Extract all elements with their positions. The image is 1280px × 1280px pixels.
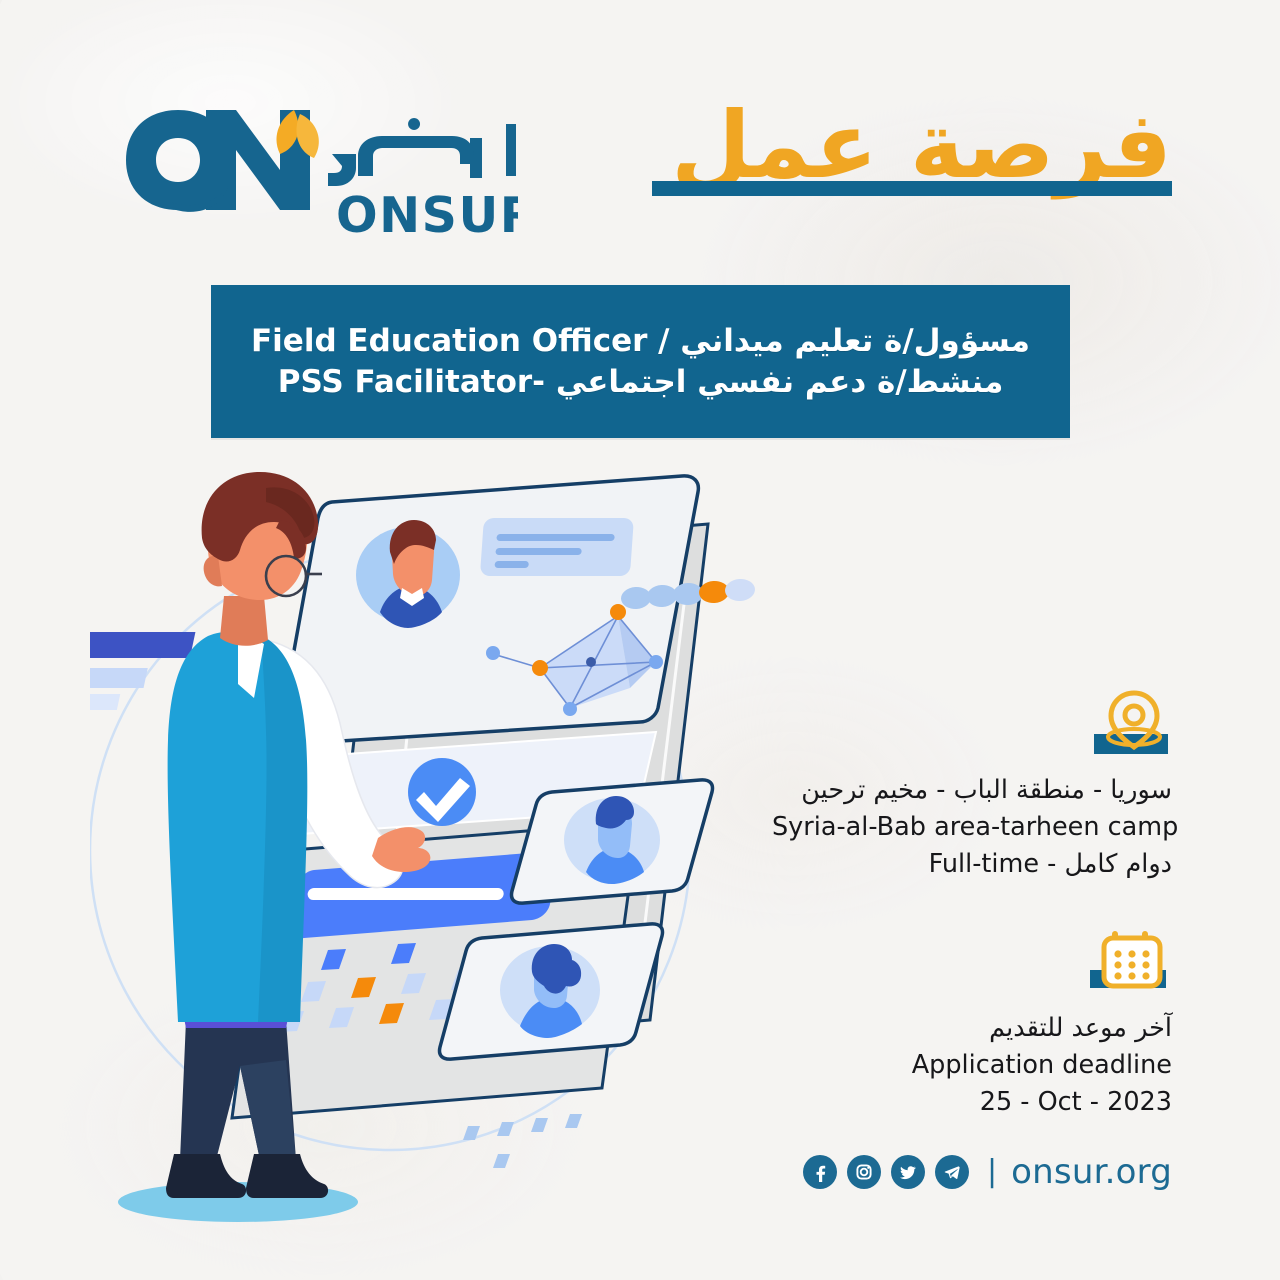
job-title-banner: مسؤول/ة تعليم ميداني / Field Education O… [211,285,1070,438]
avatar-card-2 [440,924,663,1059]
telegram-icon[interactable] [935,1155,969,1189]
instagram-icon[interactable] [847,1155,881,1189]
location-line-2: Syria-al-Bab area-tarheen camp [772,809,1172,846]
website-link[interactable]: onsur.org [1011,1152,1172,1192]
deadline-block: آخر موعد للتقديم Application deadline 25… [772,926,1172,1122]
decorative-dashes-bottom [463,1114,582,1168]
calendar-icon [772,926,1172,994]
job-title-line-2: منشط/ة دعم نفسي اجتماعي -PSS Facilitator [278,365,1004,400]
deadline-line-1: آخر موعد للتقديم [772,1010,1172,1047]
job-title-line-1: مسؤول/ة تعليم ميداني / Field Education O… [251,324,1030,359]
location-pin-icon [772,690,1172,756]
deadline-date: 25 - Oct - 2023 [772,1084,1172,1121]
illustration [90,460,830,1270]
check-button [408,758,476,826]
headline-text: فرصة عمل [652,100,1172,192]
facebook-icon[interactable] [803,1155,837,1189]
logo-wordmark: ONSUR [336,187,518,236]
footer-separator: | [987,1157,997,1187]
poster-canvas: ONSUR فرصة عمل مسؤول/ة تعليم ميداني / Fi… [0,0,1280,1280]
location-block: سوريا - منطقة الباب - مخيم ترحين Syria-a… [772,690,1172,884]
logo-arabic-text [328,118,516,186]
info-column: سوريا - منطقة الباب - مخيم ترحين Syria-a… [772,690,1172,1163]
location-line-1: سوريا - منطقة الباب - مخيم ترحين [772,772,1172,809]
avatar-card-1 [512,780,713,903]
footer: | onsur.org [803,1152,1172,1192]
deadline-line-2: Application deadline [772,1047,1172,1084]
twitter-icon[interactable] [891,1155,925,1189]
headline: فرصة عمل [652,100,1172,192]
location-line-3: دوام كامل - Full-time [772,846,1172,883]
onsur-logo: ONSUR [118,104,518,234]
headline-underline [652,181,1172,196]
